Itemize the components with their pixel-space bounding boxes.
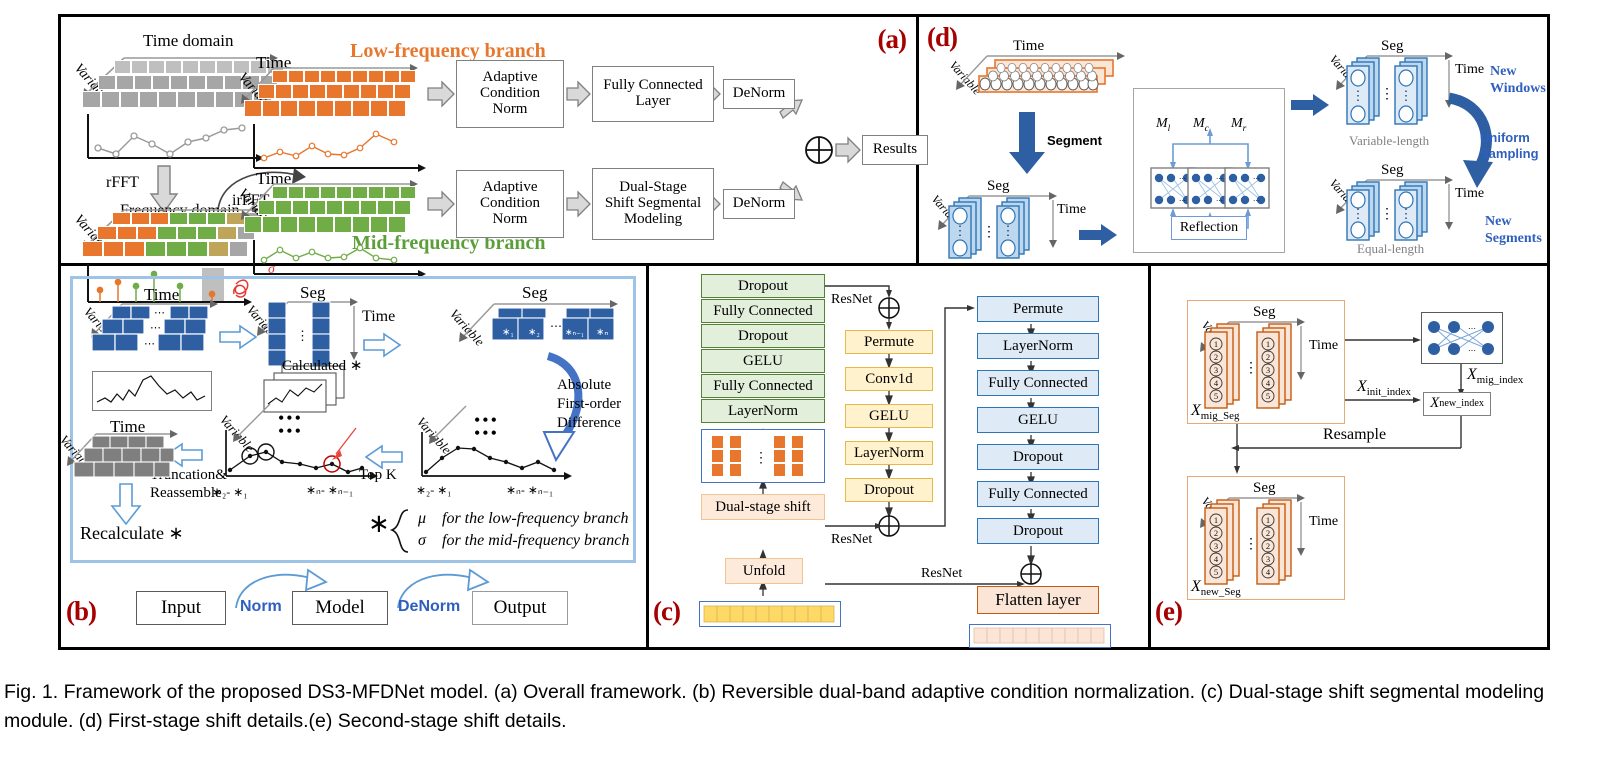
c-dropout-2: Dropout	[701, 324, 825, 348]
svg-text:2: 2	[1266, 541, 1270, 551]
c-layernorm-left: LayerNorm	[701, 399, 825, 423]
e-x-init-index-label: Xinit_index	[1357, 378, 1411, 399]
svg-text:∗ₙ: ∗ₙ	[596, 327, 608, 338]
b-legend-mid-text: for the mid-frequency branch	[442, 532, 629, 550]
svg-text:⋯: ⋯	[1253, 197, 1260, 205]
svg-text:3: 3	[1266, 554, 1270, 564]
svg-text:1: 1	[1266, 515, 1270, 525]
svg-text:⋯: ⋯	[150, 322, 161, 334]
c-gelu-right: GELU	[977, 407, 1099, 433]
c-input-strip	[699, 601, 841, 627]
b-blue-brick-stack: ⋯ ⋯ ⋯	[88, 306, 238, 376]
svg-text:⋯: ⋯	[1216, 197, 1223, 205]
c-conv1d: Conv1d	[845, 367, 933, 391]
svg-text:⋮: ⋮	[754, 451, 768, 466]
svg-text:⋮: ⋮	[1380, 87, 1394, 102]
b-legend-star: ∗	[368, 510, 390, 539]
b-calculated-label: Calculated ∗	[282, 358, 362, 375]
svg-text:⋯: ⋯	[1253, 175, 1260, 183]
fully-connected-layer-box: Fully Connected Layer	[592, 66, 714, 122]
b-input-box: Input	[136, 591, 226, 625]
adaptive-condition-norm-mid: Adaptive Condition Norm	[456, 170, 564, 238]
svg-text:⋯: ⋯	[1468, 324, 1476, 333]
svg-text:1: 1	[1214, 515, 1218, 525]
svg-text:⋯: ⋯	[154, 307, 165, 319]
adaptive-condition-norm-low: Adaptive Condition Norm	[456, 60, 564, 128]
b-recalculate-label: Recalculate ∗	[80, 524, 184, 544]
b-norm-label: Norm	[240, 598, 282, 616]
d-bl-segment-cards: ⋮ ⋮ ⋮	[945, 198, 1075, 268]
denorm-low-box: DeNorm	[723, 79, 795, 109]
b-signal-panel-1	[92, 371, 212, 411]
c-resnet-label-3: ResNet	[921, 566, 962, 581]
svg-text:3: 3	[1214, 541, 1218, 551]
svg-text:⋮: ⋮	[1002, 223, 1015, 238]
c-fully-connected-right-1: Fully Connected	[977, 370, 1099, 396]
c-dropout-mid: Dropout	[845, 478, 933, 502]
e-x-mig-index-label: Xmig_index	[1467, 366, 1523, 387]
d-arrow-to-reflection	[1079, 224, 1125, 250]
d-new-segments-label: New Segments	[1485, 214, 1542, 248]
d-new-windows-label: New Windows	[1490, 64, 1546, 98]
svg-text:5: 5	[1214, 567, 1218, 577]
c-fully-connected-right-2: Fully Connected	[977, 481, 1099, 507]
c-dropout-right-1: Dropout	[977, 444, 1099, 470]
b-axis-right-right-plot: ∗ₙ- ∗ₙ₋₁	[506, 484, 553, 497]
svg-text:⋯: ⋯	[1179, 175, 1186, 183]
panel-c: (c)	[649, 266, 1148, 648]
svg-text:⋮: ⋮	[1400, 206, 1413, 221]
c-output-strip	[969, 624, 1111, 648]
c-dropout-top: Dropout	[701, 274, 825, 298]
e-x-new-seg-label: Xnew_Seg	[1191, 578, 1241, 599]
d-variable-length-label: Variable-length	[1349, 134, 1429, 148]
c-dropout-right-2: Dropout	[977, 518, 1099, 544]
svg-text:⋯: ⋯	[1468, 346, 1476, 355]
b-legend-brace	[388, 508, 414, 558]
svg-text:2: 2	[1214, 528, 1218, 538]
c-feature-block: ⋮	[701, 429, 825, 483]
d-uniform-sampling-label: Uniform Sampling	[1480, 130, 1539, 161]
c-dual-stage-shift-box: Dual-stage shift	[701, 494, 825, 520]
c-unfold-box: Unfold	[725, 558, 803, 584]
svg-text:⋯: ⋯	[1216, 175, 1223, 183]
figure-root: (a) Low-frequency branch Mid-frequency b…	[0, 0, 1607, 760]
b-model-box: Model	[292, 591, 388, 625]
svg-text:2: 2	[1266, 528, 1270, 538]
svg-text:⋮: ⋮	[1352, 206, 1365, 221]
e-resample-label: Resample	[1323, 426, 1386, 444]
svg-text:∗₂: ∗₂	[528, 327, 540, 338]
figure-caption: Fig. 1. Framework of the proposed DS3-MF…	[4, 678, 1604, 737]
b-recalculate-arrow	[110, 484, 144, 528]
svg-text:⋯: ⋯	[550, 319, 562, 333]
dual-stage-shift-segmental-modeling-box: Dual-Stage Shift Segmental Modeling	[592, 168, 714, 240]
c-fully-connected-1: Fully Connected	[701, 374, 825, 398]
b-arrow-2	[364, 334, 410, 360]
b-output-box: Output	[472, 591, 568, 625]
panel-b-label: (b)	[66, 596, 96, 627]
svg-text:⋮: ⋮	[982, 225, 996, 240]
svg-text:⋮: ⋮	[1380, 207, 1394, 222]
panel-d: (d) Time Variable Seg	[919, 16, 1548, 263]
svg-text:⋯: ⋯	[1179, 197, 1186, 205]
svg-text:⋮: ⋮	[954, 223, 967, 238]
b-legend-low-text: for the low-frequency branch	[442, 510, 628, 528]
panel-b: (b) Time Variable ⋯ ⋯ ⋯	[60, 266, 646, 648]
e-x-new-index-box: Xnew_index	[1423, 392, 1491, 416]
b-legend-sigma: σ	[418, 532, 426, 550]
b-legend-mu: μ	[418, 510, 426, 528]
d-reflection-box: Reflection	[1171, 216, 1247, 240]
d-equal-length-label: Equal-length	[1357, 242, 1424, 256]
c-resnet-label-2: ResNet	[831, 532, 872, 547]
c-gelu-left: GELU	[701, 349, 825, 373]
c-permute-right: Permute	[977, 296, 1099, 322]
c-permute-mid: Permute	[845, 330, 933, 354]
svg-text:⋮: ⋮	[1400, 88, 1413, 103]
panel-e: (e) Seg Variable Time 12345	[1151, 266, 1548, 648]
svg-text:⋮: ⋮	[296, 328, 309, 343]
b-denorm-label: DeNorm	[398, 598, 460, 616]
denorm-mid-box: DeNorm	[723, 189, 795, 219]
c-layernorm-right: LayerNorm	[977, 333, 1099, 359]
c-fully-connected-2: Fully Connected	[701, 299, 825, 323]
svg-text:⋮: ⋮	[1244, 537, 1258, 552]
c-flatten-layer-box: Flatten layer	[977, 586, 1099, 614]
svg-text:⋮: ⋮	[1352, 88, 1365, 103]
svg-text:∗₁: ∗₁	[502, 327, 514, 338]
d-segment-label: Segment	[1047, 134, 1102, 148]
c-layernorm-mid: LayerNorm	[845, 441, 933, 465]
c-gelu-mid: GELU	[845, 404, 933, 428]
e-neural-net-box: ⋯ ⋯	[1421, 312, 1503, 364]
svg-text:∗ₙ₋₁: ∗ₙ₋₁	[565, 327, 584, 337]
b-axis-right-left-plot: ∗ₙ- ∗ₙ₋₁	[306, 484, 353, 497]
c-resnet-label-1: ResNet	[831, 292, 872, 307]
b-axis-left-right-plot: ∗₂- ∗₁	[416, 484, 451, 497]
b-time-label-2: Time	[362, 308, 395, 326]
panel-a: (a) Low-frequency branch Mid-frequency b…	[60, 16, 916, 263]
svg-text:⋯: ⋯	[144, 338, 155, 350]
